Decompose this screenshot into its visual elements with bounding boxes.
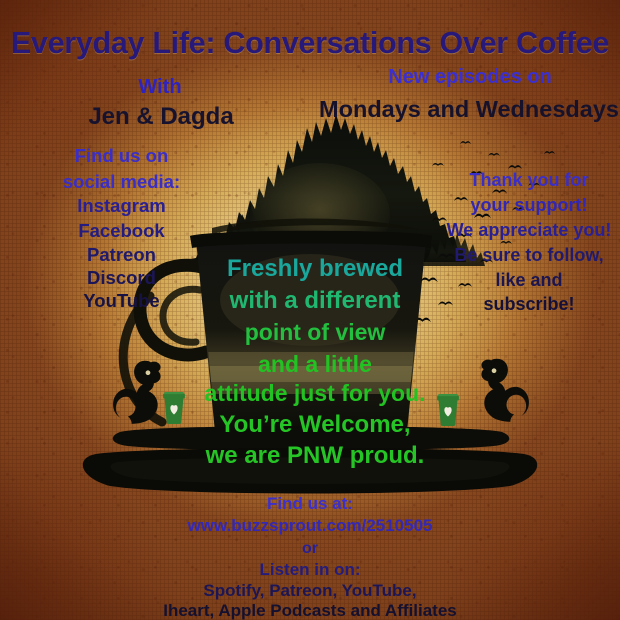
listen-platforms-2: Iheart, Apple Podcasts and Affiliates [95, 601, 525, 620]
tagline-line-5: attitude just for you. [130, 381, 500, 407]
social-heading-line-2: social media: [34, 172, 209, 193]
thanks-line-1: Thank you for [440, 170, 618, 190]
tagline-line-4: and a little [150, 352, 480, 378]
social-heading-line-1: Find us on [34, 146, 209, 167]
tagline-line-2: with a different [150, 288, 480, 315]
thanks-line-3: We appreciate you! [440, 220, 618, 240]
thanks-line-2: your support! [440, 195, 618, 215]
or-label: or [110, 540, 510, 558]
page-title: Everyday Life: Conversations Over Coffee [0, 26, 620, 60]
hosts-with-label: With [60, 76, 260, 98]
find-us-label: Find us at: [110, 494, 510, 513]
tagline-line-6: You’re Welcome, [140, 412, 490, 439]
social-item-facebook[interactable]: Facebook [34, 221, 209, 242]
schedule-line-1: New episodes on [325, 66, 615, 88]
listen-platforms-1: Spotify, Patreon, YouTube, [110, 581, 510, 600]
hosts-names: Jen & Dagda [26, 104, 296, 131]
schedule-line-2: Mondays and Wednesdays [318, 96, 620, 122]
social-item-instagram[interactable]: Instagram [34, 196, 209, 217]
tagline-line-1: Freshly brewed [150, 256, 480, 283]
tagline-line-3: point of view [150, 320, 480, 346]
tagline-line-7: we are PNW proud. [140, 443, 490, 470]
listen-in-on-label: Listen in on: [110, 560, 510, 579]
podcast-url[interactable]: www.buzzsprout.com/2510505 [110, 516, 510, 535]
podcast-poster: Everyday Life: Conversations Over Coffee… [0, 0, 620, 620]
